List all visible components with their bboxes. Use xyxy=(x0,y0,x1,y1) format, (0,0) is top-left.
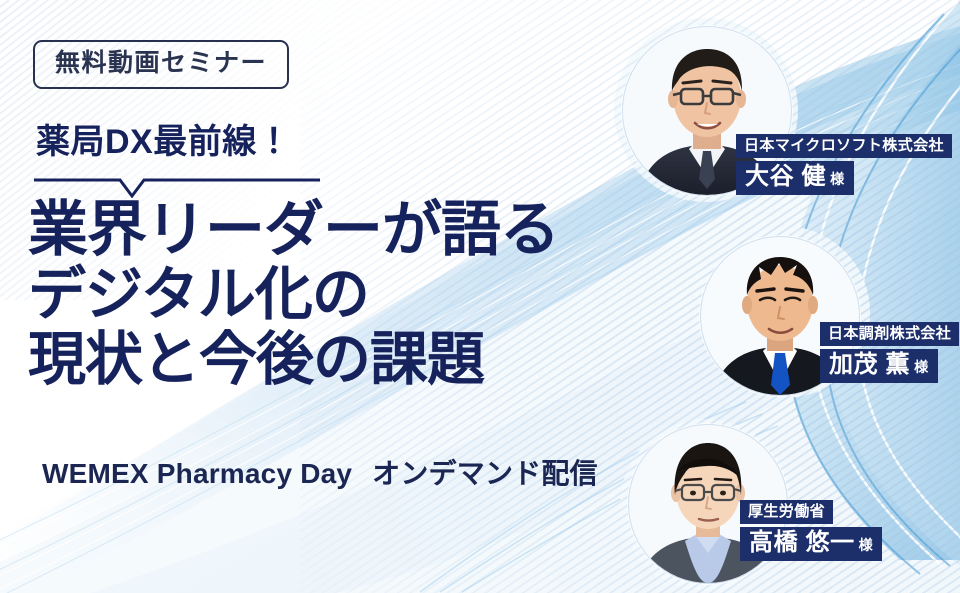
plate-row-name: 加茂 薫様 xyxy=(820,346,959,383)
eyebrow-rule xyxy=(32,170,322,198)
speaker-honorific: 様 xyxy=(914,359,929,375)
speaker-name: 加茂 薫 xyxy=(829,351,910,378)
plate-row-org: 日本マイクロソフト株式会社 xyxy=(736,134,952,158)
speaker-nameplate-1: 日本マイクロソフト株式会社 大谷 健様 xyxy=(736,134,952,195)
plate-row-name: 高橋 悠一様 xyxy=(740,524,882,561)
seminar-banner: 無料動画セミナー 薬局DX最前線！ 業界リーダーが語る デジタル化の 現状と今後… xyxy=(0,0,960,593)
speaker-name-bar: 大谷 健様 xyxy=(736,161,854,195)
headline-line-2: デジタル化の xyxy=(28,263,648,328)
headline-column: 無料動画セミナー 薬局DX最前線！ 業界リーダーが語る デジタル化の 現状と今後… xyxy=(0,0,640,593)
speaker-organization: 日本調剤株式会社 xyxy=(820,322,959,346)
plate-row-name: 大谷 健様 xyxy=(736,158,952,195)
subtitle-japanese: オンデマンド配信 xyxy=(372,458,598,489)
speaker-name: 大谷 健 xyxy=(745,163,826,190)
eyebrow-text: 薬局DX最前線！ xyxy=(36,125,291,159)
speaker-name-bar: 高橋 悠一様 xyxy=(740,527,882,561)
subtitle: WEMEX Pharmacy Day オンデマンド配信 xyxy=(42,452,598,492)
speaker-name: 高橋 悠一 xyxy=(749,529,855,556)
page-title: 業界リーダーが語る デジタル化の 現状と今後の課題 xyxy=(28,196,648,393)
speaker-name-bar: 加茂 薫様 xyxy=(820,349,938,383)
eyebrow-rule-svg xyxy=(32,170,322,198)
speaker-nameplate-3: 厚生労働省 高橋 悠一様 xyxy=(740,500,882,561)
speaker-honorific: 様 xyxy=(830,171,845,187)
speaker-honorific: 様 xyxy=(859,537,874,553)
headline-line-1: 業界リーダーが語る xyxy=(28,196,648,263)
plate-row-org: 厚生労働省 xyxy=(740,500,882,524)
speaker-organization: 日本マイクロソフト株式会社 xyxy=(736,134,952,158)
speaker-organization: 厚生労働省 xyxy=(740,500,833,524)
free-seminar-badge: 無料動画セミナー xyxy=(33,40,289,89)
plate-row-org: 日本調剤株式会社 xyxy=(820,322,959,346)
speaker-nameplate-2: 日本調剤株式会社 加茂 薫様 xyxy=(820,322,959,383)
subtitle-english: WEMEX Pharmacy Day xyxy=(42,458,352,489)
headline-line-3: 現状と今後の課題 xyxy=(28,328,648,393)
